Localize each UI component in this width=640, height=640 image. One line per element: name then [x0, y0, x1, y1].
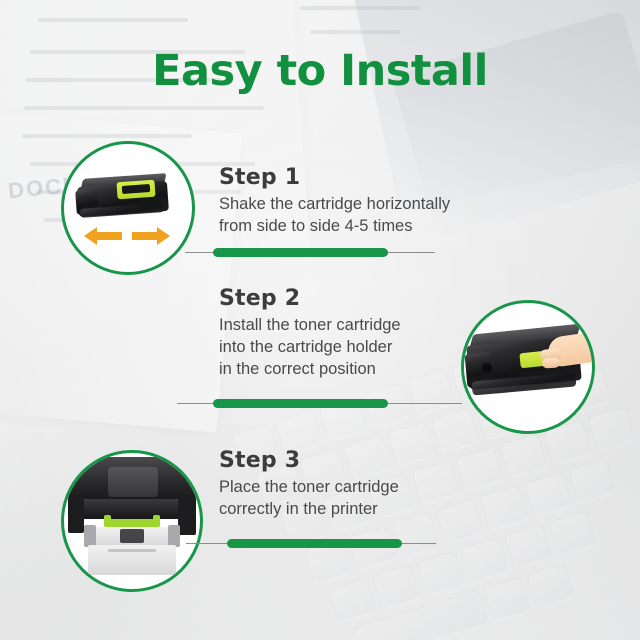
infographic-canvas: DOCUMENT: [0, 0, 640, 640]
step-1-image: [61, 141, 195, 275]
step-2-divider: [177, 399, 462, 409]
step-3-body: Place the toner cartridge correctly in t…: [219, 477, 479, 521]
step-1-title: Step 1: [219, 165, 519, 190]
step-2-text: Step 2 Install the toner cartridge into …: [219, 286, 459, 381]
step-1-divider: [185, 248, 435, 258]
step-1-body: Shake the cartridge horizontally from si…: [219, 194, 519, 238]
step-3-image: [61, 450, 203, 592]
step-2-image: [461, 300, 595, 434]
step-3-divider: [186, 539, 436, 549]
step-2-title: Step 2: [219, 286, 459, 311]
page-title: Easy to Install: [0, 46, 640, 96]
step-3-title: Step 3: [219, 448, 479, 473]
step-2-body: Install the toner cartridge into the car…: [219, 315, 459, 381]
step-3-text: Step 3 Place the toner cartridge correct…: [219, 448, 479, 521]
arrow-right-icon: [132, 227, 170, 245]
arrow-left-icon: [84, 227, 122, 245]
step-1-text: Step 1 Shake the cartridge horizontally …: [219, 165, 519, 238]
